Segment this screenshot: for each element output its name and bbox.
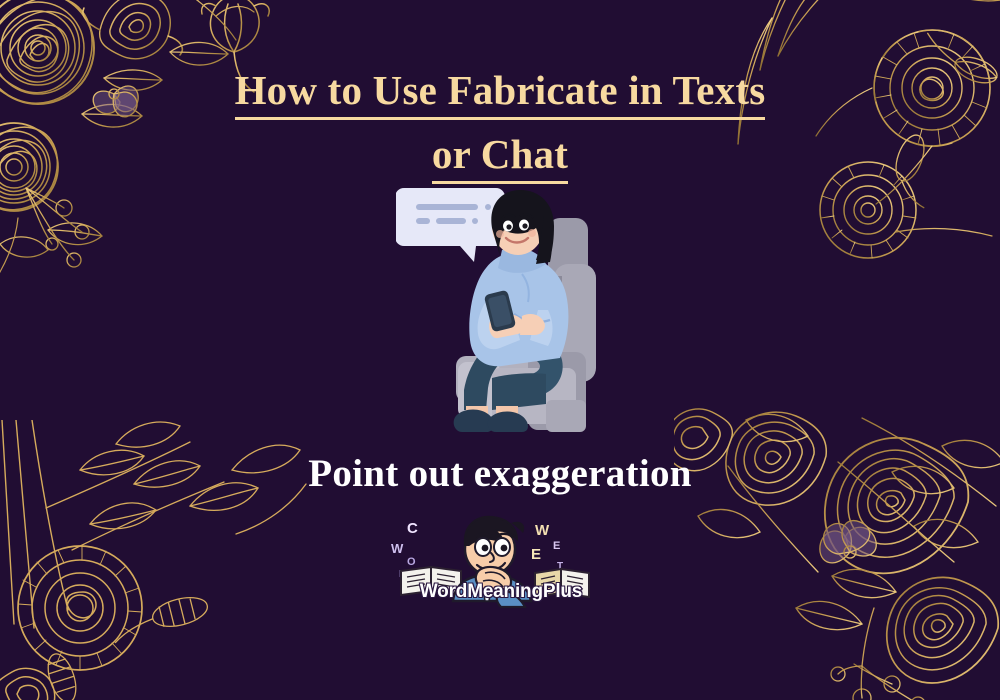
chat-speech-bubble <box>396 188 505 262</box>
logo-letter-e2: E <box>553 540 560 552</box>
logo-letter-e: E <box>531 546 541 563</box>
page-title: How to Use Fabricate in Texts or Chat <box>0 64 1000 192</box>
armchair-base <box>546 400 586 432</box>
logo-letter-o: O <box>407 556 416 568</box>
title-line-2: or Chat <box>432 128 568 184</box>
illustration-person-texting <box>396 182 616 444</box>
logo-letter-w: W <box>391 541 404 556</box>
title-line-1: How to Use Fabricate in Texts <box>235 64 766 120</box>
subtitle: Point out exaggeration <box>0 451 1000 496</box>
logo-letter-w2: W <box>535 522 550 539</box>
brand-logo: C W O R D W E E A T <box>385 509 617 609</box>
poster-canvas: How to Use Fabricate in Texts or Chat <box>0 0 1000 700</box>
logo-letter-c: C <box>407 520 418 537</box>
brand-name: WordMeaningPlus <box>385 581 617 603</box>
